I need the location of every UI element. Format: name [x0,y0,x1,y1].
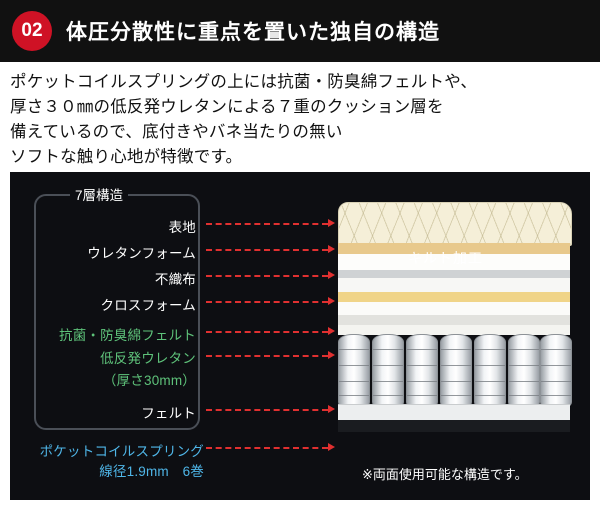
lead-line-1: ポケットコイルスプリングの上には抗菌・防臭綿フェルトや、 [10,70,596,95]
section-header: 02 体圧分散性に重点を置いた独自の構造 [0,0,600,62]
mattress-shadow [338,420,570,432]
pocket-coil-row [338,334,570,420]
layer-felt-base [338,315,570,325]
label-nonwoven: 不織布 [66,268,196,288]
coil-unit [338,334,370,410]
coil-unit [406,334,438,410]
leader-line-felt [206,409,328,411]
label-cross-foam: クロスフォーム [56,294,196,314]
section-number-badge: 02 [12,11,52,51]
leader-line-nonwoven [206,275,328,277]
lead-paragraph: ポケットコイルスプリングの上には抗菌・防臭綿フェルトや、 厚さ３０㎜の低反発ウレ… [10,70,596,170]
figure-footnote: ※両面使用可能な構造です。 [362,464,528,483]
leader-line-urethane [206,249,328,251]
leader-arrow-crossfoam [328,297,335,305]
leader-arrow-coil [328,443,335,451]
layer-quilted-top [338,202,572,246]
leader-line-coil [206,447,328,449]
layer-low-rebound-urethane [338,292,570,302]
leader-arrow-felt [328,405,335,413]
leader-arrow-surface [328,219,335,227]
product-feature-page: 02 体圧分散性に重点を置いた独自の構造 ポケットコイルスプリングの上には抗菌・… [0,0,600,510]
label-antibacterial-felt: 抗菌・防臭綿フェルト [26,324,196,344]
label-thickness-30mm: （厚さ30mm） [66,369,196,389]
label-urethane-foam: ウレタンフォーム [56,242,196,262]
label-pocket-coil-spring: ポケットコイルスプリング [26,440,204,460]
page-title: 体圧分散性に重点を置いた独自の構造 [66,16,440,46]
leader-arrow-urethane [328,245,335,253]
layer-crossfoam [338,270,570,278]
mattress-structure-figure: 7層構造 表地 ウレタンフォーム 不織布 クロスフォーム 抗菌・防臭綿フェルト … [10,172,590,500]
coil-unit [540,334,572,410]
quilt-pattern [339,203,571,245]
label-felt: フェルト [76,402,196,422]
coil-unit [440,334,472,410]
layer-frame-title: 7層構造 [70,184,128,204]
leader-line-surface [206,223,328,225]
coil-unit [508,334,540,410]
quilt-callout-label: キルト加工 [408,248,483,268]
lead-line-2: 厚さ３０㎜の低反発ウレタンによる７重のクッション層を [10,95,596,120]
leader-arrow-felt-antibacterial [328,327,335,335]
coil-unit [372,334,404,410]
lead-line-4: ソフトな触り心地が特徴です。 [10,145,596,170]
label-coil-gauge: 線径1.9mm 6巻 [26,460,204,480]
label-low-rebound-urethane: 低反発ウレタン [56,347,196,367]
coil-base-layer [338,404,570,421]
leader-arrow-low-rebound [328,351,335,359]
leader-arrow-nonwoven [328,271,335,279]
leader-line-low-rebound [206,355,328,357]
mattress-cross-section [338,202,570,442]
layer-felt-white [338,278,570,292]
layer-felt-lower [338,302,570,315]
leader-line-crossfoam [206,301,328,303]
leader-line-felt-antibacterial [206,331,328,333]
lead-line-3: 備えているので、底付きやバネ当たりの無い [10,120,596,145]
label-surface: 表地 [76,216,196,236]
coil-unit [474,334,506,410]
